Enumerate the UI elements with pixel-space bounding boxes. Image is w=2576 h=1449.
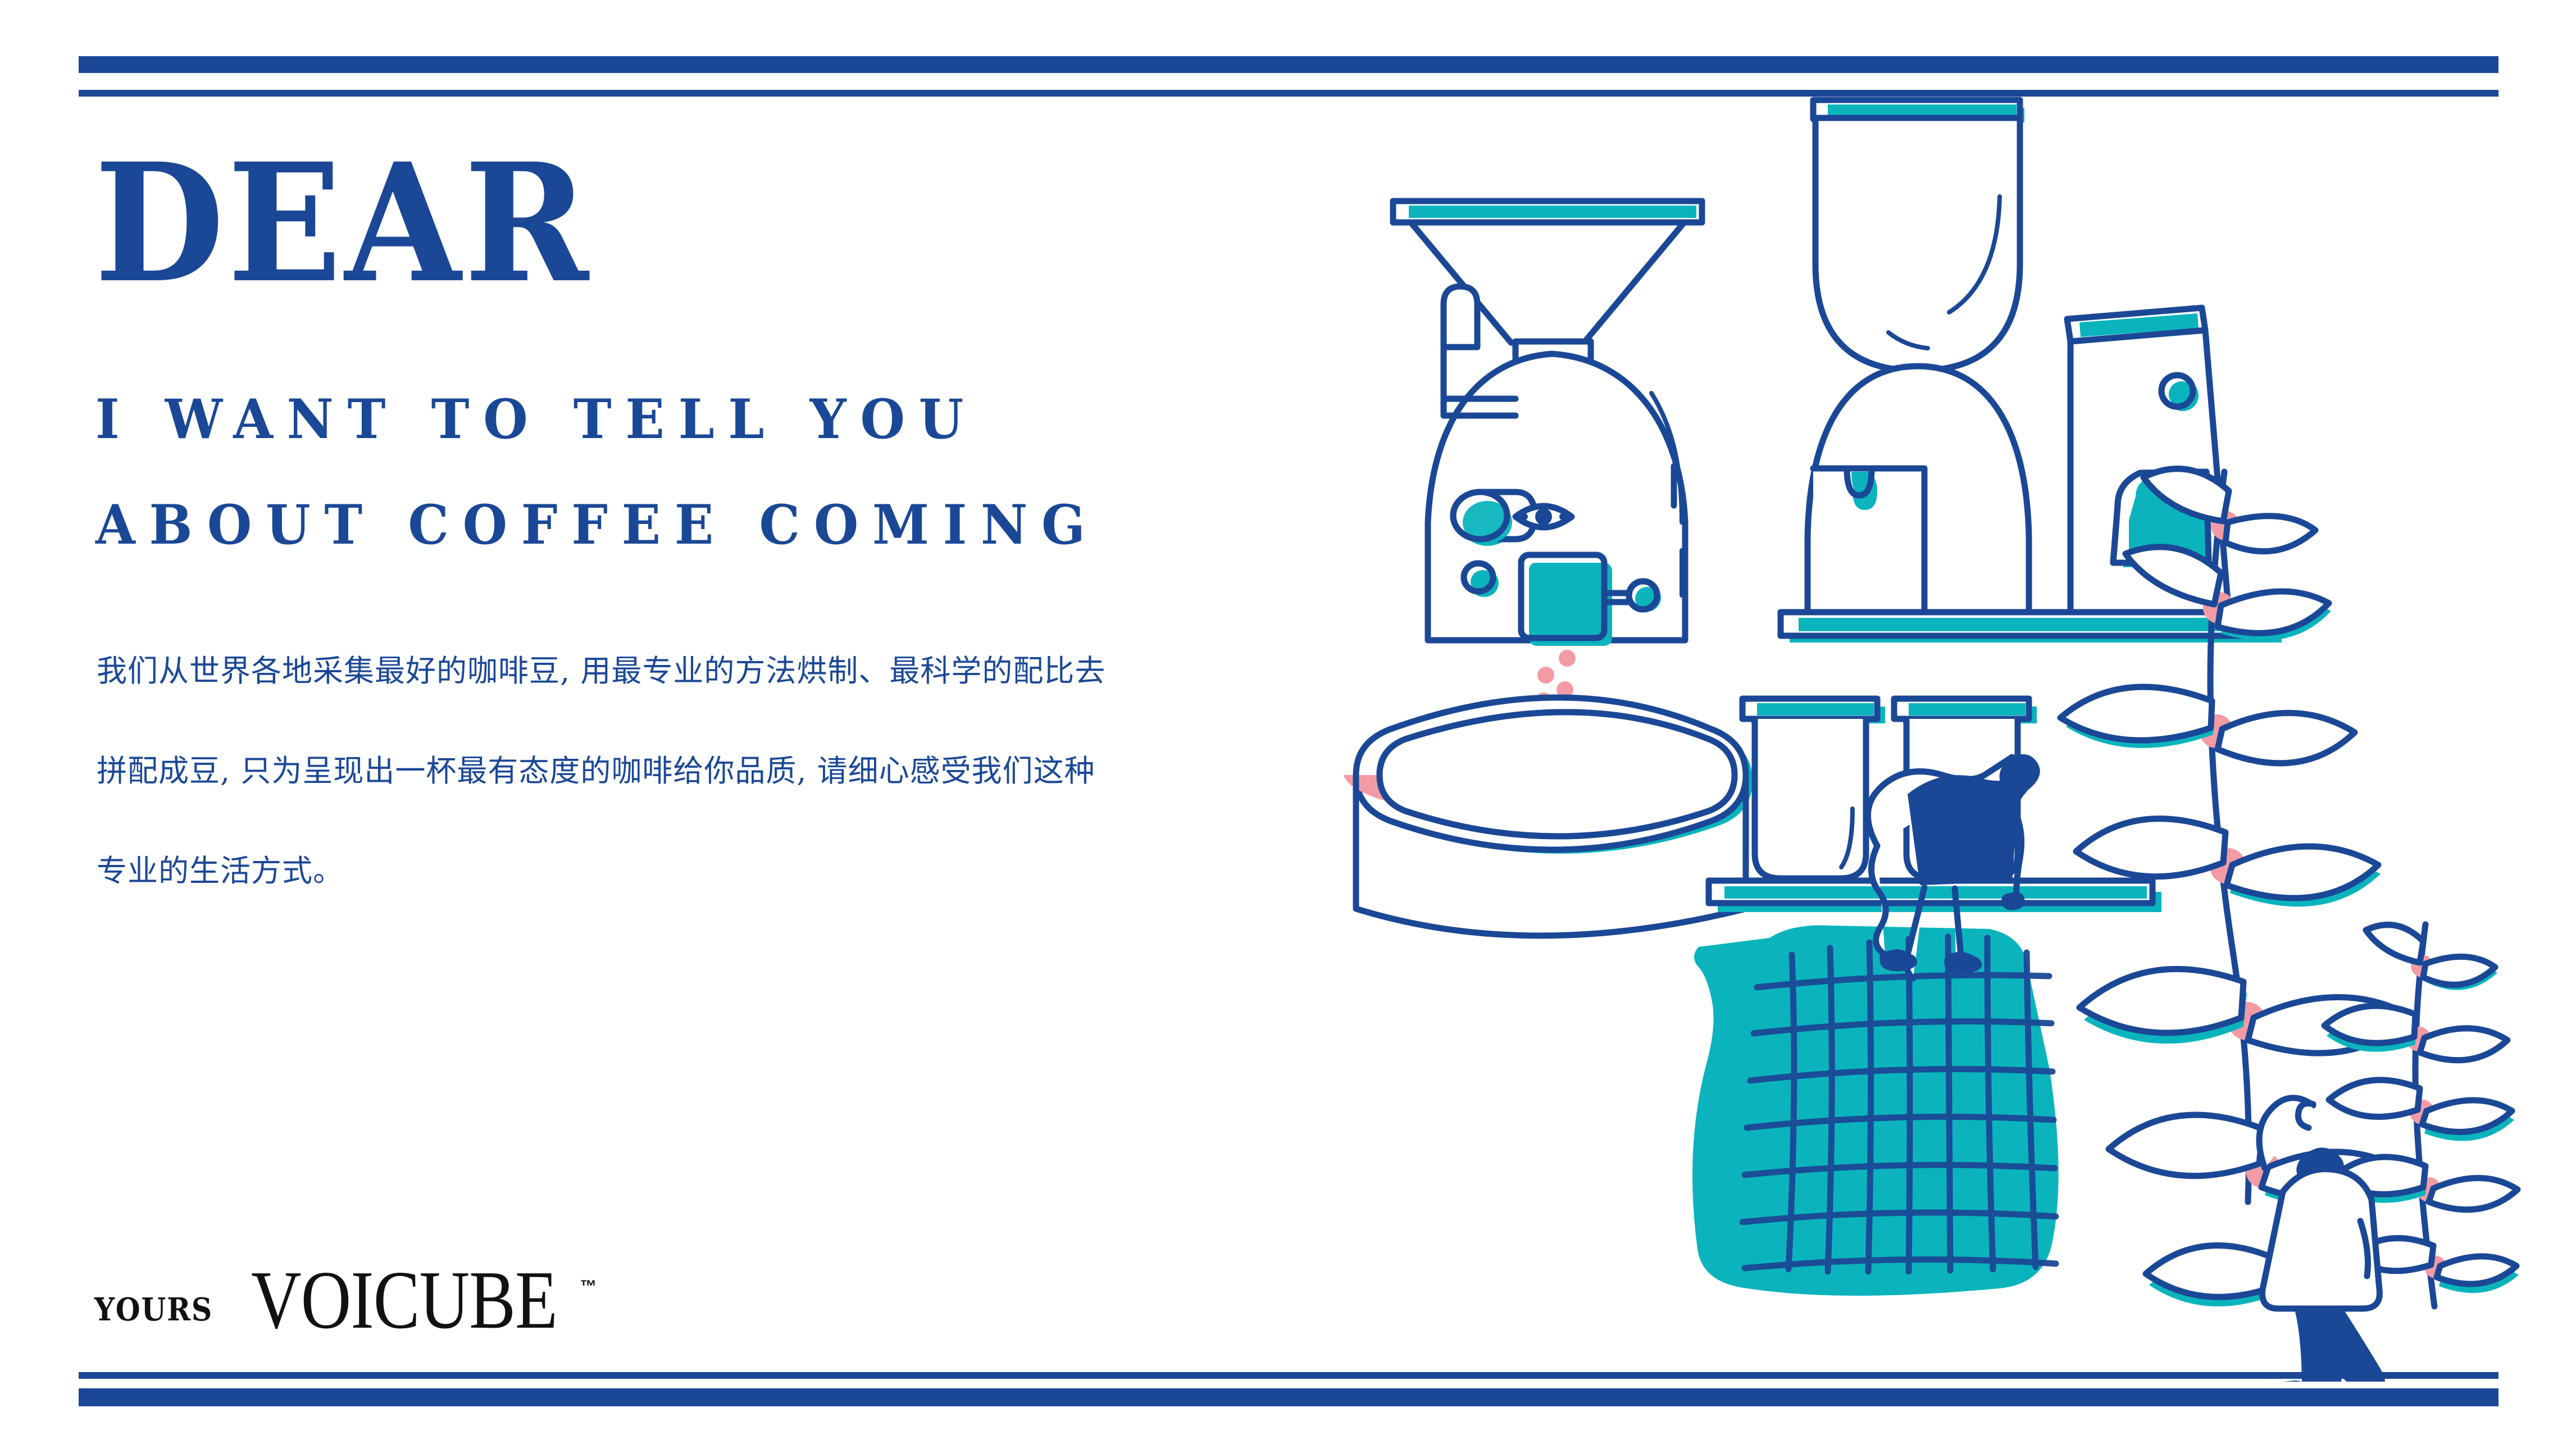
worker-picking: [2259, 1098, 2385, 1382]
plant-tall-leaf-6L: [2109, 1115, 2263, 1176]
plant-short-leaf-4R: [2429, 1178, 2518, 1209]
grinder-hopper: [1815, 118, 2020, 371]
roaster-hopper-rim-fill: [1409, 206, 1696, 218]
poster-canvas: DEAR I WANT TO TELL YOU ABOUT COFFEE COM…: [0, 0, 2576, 1449]
frame-rule-top-thick: [79, 56, 2498, 73]
worker-picking-hand: [2298, 1104, 2313, 1128]
cooling-tray-inner-outline: [1380, 712, 1735, 836]
body-copy-line-2: 拼配成豆, 只为呈现出一杯最有态度的咖啡给你品质, 请细心感受我们这种: [97, 721, 1220, 821]
roaster-gauge-dot-left: [1521, 513, 1528, 520]
body-copy: 我们从世界各地采集最好的咖啡豆, 用最专业的方法烘制、最科学的配比去 拼配成豆,…: [97, 621, 1220, 921]
plant-tall-leaf-3R: [2218, 713, 2355, 763]
roaster-gauge-dot-right: [1559, 513, 1566, 520]
plant-tall-leaf-1R: [2225, 516, 2315, 552]
body-copy-line-1: 我们从世界各地采集最好的咖啡豆, 用最专业的方法烘制、最科学的配比去: [97, 621, 1220, 721]
plant-tall-leaf-3L: [2060, 687, 2212, 740]
worker-bending-hand: [2001, 892, 2024, 910]
roaster-door-fill: [1529, 563, 1608, 641]
yours-label: YOURS: [94, 1291, 213, 1328]
plant-short-leaf-3L: [2329, 1080, 2420, 1117]
roaster-gauge-pupil: [1535, 508, 1552, 525]
brand-wordmark: VOICUBE: [251, 1268, 557, 1333]
roaster-lever: [1444, 286, 1477, 347]
subheadline-line-2: ABOUT COFFEE COMING: [95, 493, 1099, 557]
canister-left-lid-fill: [1757, 703, 1874, 716]
coffee-roastery-illustration: .bl { fill:none; stroke:#1b4896; stroke-…: [1337, 79, 2539, 1382]
brand-logo: VOICUBE ™: [251, 1275, 597, 1333]
plant-tall-leaf-5L: [2079, 969, 2243, 1033]
subheadline-line-1: I WANT TO TELL YOU: [95, 388, 977, 451]
page-headline: DEAR: [94, 151, 592, 297]
shelf-lower-fill: [1724, 886, 2147, 899]
body-copy-line-3: 专业的生活方式。: [97, 821, 1220, 921]
plant-short-leaf-2R: [2420, 1028, 2507, 1060]
frame-rule-bottom-thick: [79, 1388, 2498, 1406]
shelf-upper-fill: [1799, 618, 2270, 631]
plant-tall-leaf-4L: [2076, 819, 2225, 877]
signature-block: YOURS VOICUBE ™: [94, 1275, 597, 1333]
canister-right-lid-fill: [1909, 703, 2026, 716]
grinder-hopper-cap-fill: [1828, 104, 2017, 116]
plant-short-leaf-1L: [2366, 925, 2423, 963]
trademark-symbol: ™: [580, 1277, 597, 1296]
coffee-roaster: [1344, 201, 1753, 936]
